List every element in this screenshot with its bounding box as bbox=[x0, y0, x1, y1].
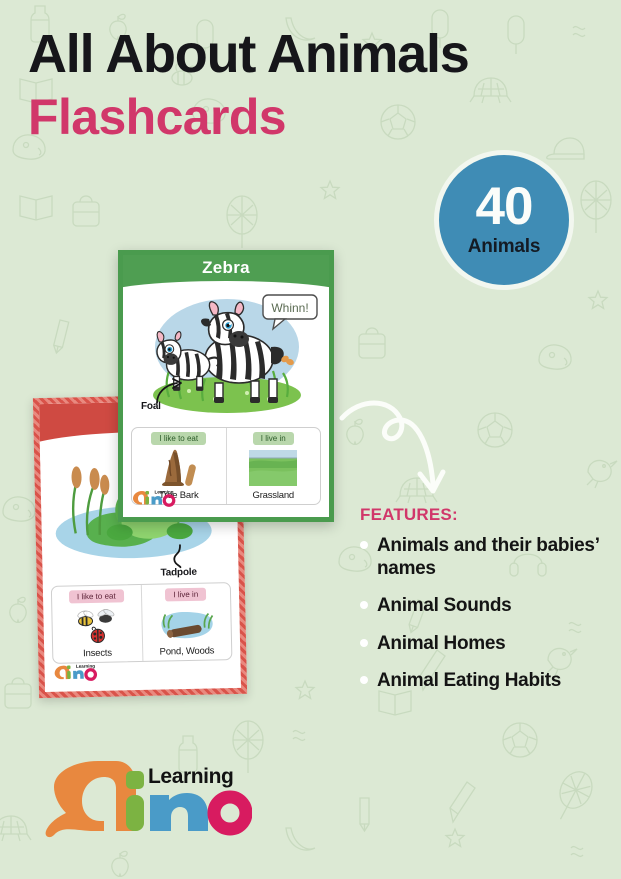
zebra-baby-label: Foal bbox=[141, 401, 161, 412]
flashcard-zebra[interactable]: Zebra bbox=[118, 250, 334, 522]
curved-arrow-to-features bbox=[338, 396, 453, 521]
page-subtitle: Flashcards bbox=[28, 89, 469, 145]
svg-text:Whinn!: Whinn! bbox=[271, 301, 308, 315]
frog-eat-cell: I like to eat bbox=[52, 585, 142, 663]
grassland-icon bbox=[247, 448, 299, 488]
frog-info-panel: I like to eat bbox=[51, 582, 233, 664]
zebra-live-value: Grassland bbox=[253, 490, 295, 501]
feature-item: Animals and their babies’ names bbox=[360, 534, 610, 580]
bullet-dot-icon bbox=[360, 676, 368, 684]
feature-item: Animal Homes bbox=[360, 632, 610, 655]
bullet-dot-icon bbox=[360, 541, 368, 549]
frog-card-brand-logo: Learning bbox=[52, 662, 109, 688]
badge-label: Animals bbox=[468, 236, 541, 258]
svg-text:Learning: Learning bbox=[76, 663, 95, 668]
frog-baby-label: Tadpole bbox=[160, 567, 196, 579]
zebra-card-title: Zebra bbox=[202, 258, 250, 278]
animal-count-badge: 40 Animals bbox=[434, 150, 574, 290]
zebra-eat-label: I like to eat bbox=[151, 432, 206, 445]
feature-item: Animal Sounds bbox=[360, 594, 610, 617]
feature-item: Animal Eating Habits bbox=[360, 669, 610, 692]
svg-text:Learning: Learning bbox=[148, 765, 233, 788]
frog-eat-label: I like to eat bbox=[69, 589, 124, 603]
insects-icon bbox=[72, 605, 123, 646]
bullet-dot-icon bbox=[360, 639, 368, 647]
brand-logo: Learning Learning dino bbox=[40, 755, 252, 846]
feature-label: Animal Eating Habits bbox=[377, 669, 561, 692]
tree-bark-icon bbox=[153, 448, 205, 488]
badge-count: 40 bbox=[476, 182, 533, 232]
pond-icon bbox=[155, 603, 218, 644]
frog-live-value: Pond, Woods bbox=[160, 645, 215, 657]
zebra-live-cell: I live in Grassland bbox=[226, 428, 321, 504]
zebra-card-brand-logo: Learning bbox=[131, 488, 187, 513]
feature-label: Animal Homes bbox=[377, 632, 505, 655]
zebra-live-label: I live in bbox=[253, 432, 294, 445]
frog-live-cell: I live in Pond, Woods bbox=[140, 583, 231, 661]
frog-live-label: I live in bbox=[165, 588, 206, 602]
zebra-card-header: Zebra bbox=[123, 255, 329, 291]
bullet-dot-icon bbox=[360, 601, 368, 609]
frog-baby-pointer-arrow bbox=[150, 543, 185, 570]
features-section: FEATURES: Animals and their babies’ name… bbox=[360, 505, 610, 706]
title-block: All About Animals Flashcards bbox=[28, 26, 469, 145]
feature-label: Animal Sounds bbox=[377, 594, 511, 617]
svg-text:Learning: Learning bbox=[155, 490, 174, 495]
frog-eat-value: Insects bbox=[83, 648, 112, 660]
feature-label: Animals and their babies’ names bbox=[377, 534, 610, 580]
features-heading: FEATURES: bbox=[360, 505, 610, 525]
page-title: All About Animals bbox=[28, 26, 469, 83]
